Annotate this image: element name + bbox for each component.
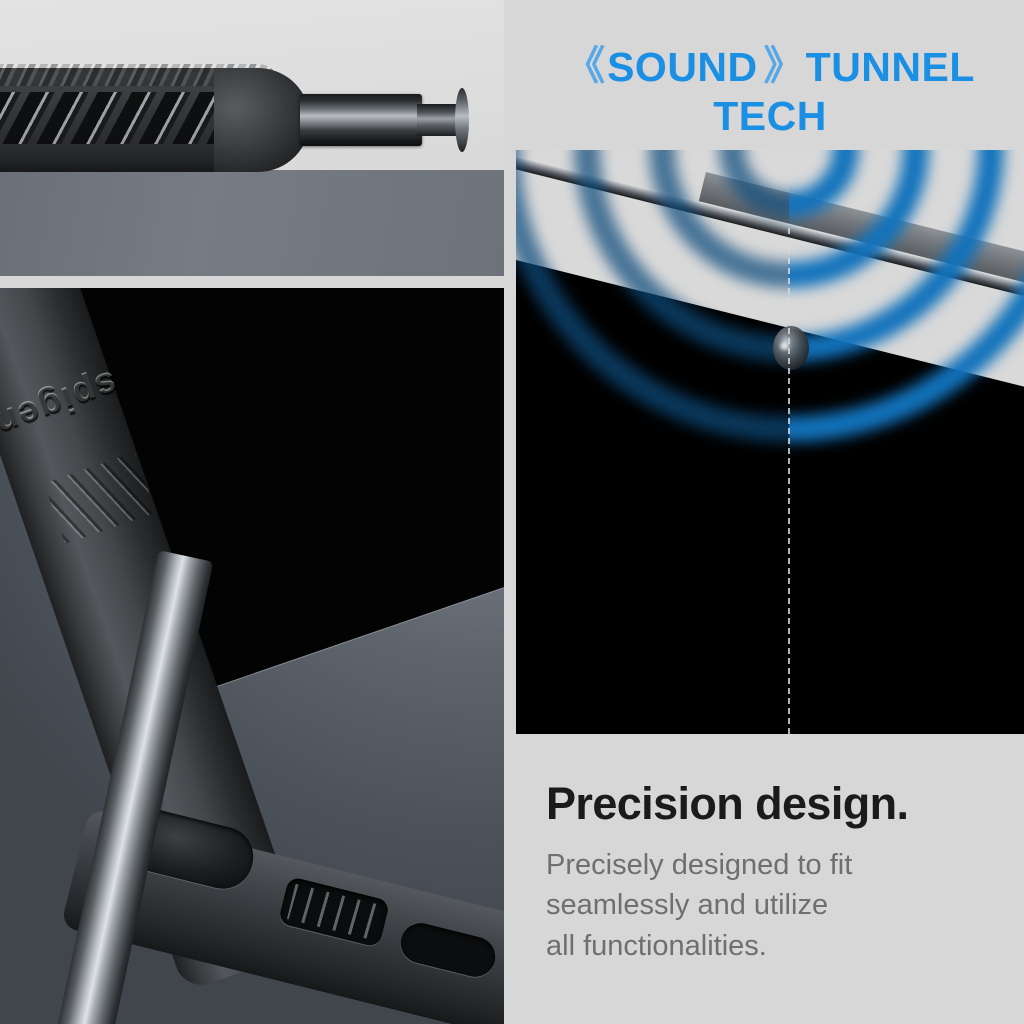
copy-line-3: all functionalities.	[546, 926, 1006, 967]
soundwave-arc-4-bright	[789, 150, 1024, 442]
panel-pen-hero: spigen	[0, 288, 504, 1024]
product-marketing-image: spigen	[0, 0, 1024, 1024]
spen-neck	[417, 104, 459, 136]
precision-copy-block: Precision design. Precisely designed to …	[546, 780, 1006, 966]
copy-line-1: Precisely designed to fit	[546, 845, 1006, 886]
panel-sound-tunnel	[516, 150, 1024, 734]
precision-body: Precisely designed to fit seamlessly and…	[546, 845, 1006, 967]
heading-word-tunnel: TUNNEL	[806, 44, 975, 91]
heading-line-1: 《 SOUND 》 TUNNEL	[516, 44, 1024, 91]
heading-word-sound: SOUND	[607, 44, 758, 91]
panel-pen-closeup	[0, 0, 504, 276]
spen-barrel	[300, 94, 422, 146]
copy-line-2: seamlessly and utilize	[546, 885, 1006, 926]
soundwave-left-icon: 《	[565, 46, 601, 86]
case-end-cap	[214, 68, 310, 172]
sound-tunnel-heading: 《 SOUND 》 TUNNEL TECH	[516, 44, 1024, 141]
soundwave-group-bright	[789, 150, 1024, 734]
comparison-divider-line	[788, 228, 790, 734]
precision-title: Precision design.	[546, 780, 1006, 829]
soundwave-arc-4-dim	[516, 150, 789, 442]
spen-end-cap-button	[455, 88, 469, 152]
soundwave-right-icon: 》	[764, 46, 800, 86]
heading-line-2: TECH	[516, 91, 1024, 141]
soundwave-group-dim	[516, 150, 789, 734]
speaker-port-dot	[773, 326, 809, 370]
case-vent-hatch-pattern	[0, 92, 242, 144]
background-slate-band	[0, 170, 504, 276]
